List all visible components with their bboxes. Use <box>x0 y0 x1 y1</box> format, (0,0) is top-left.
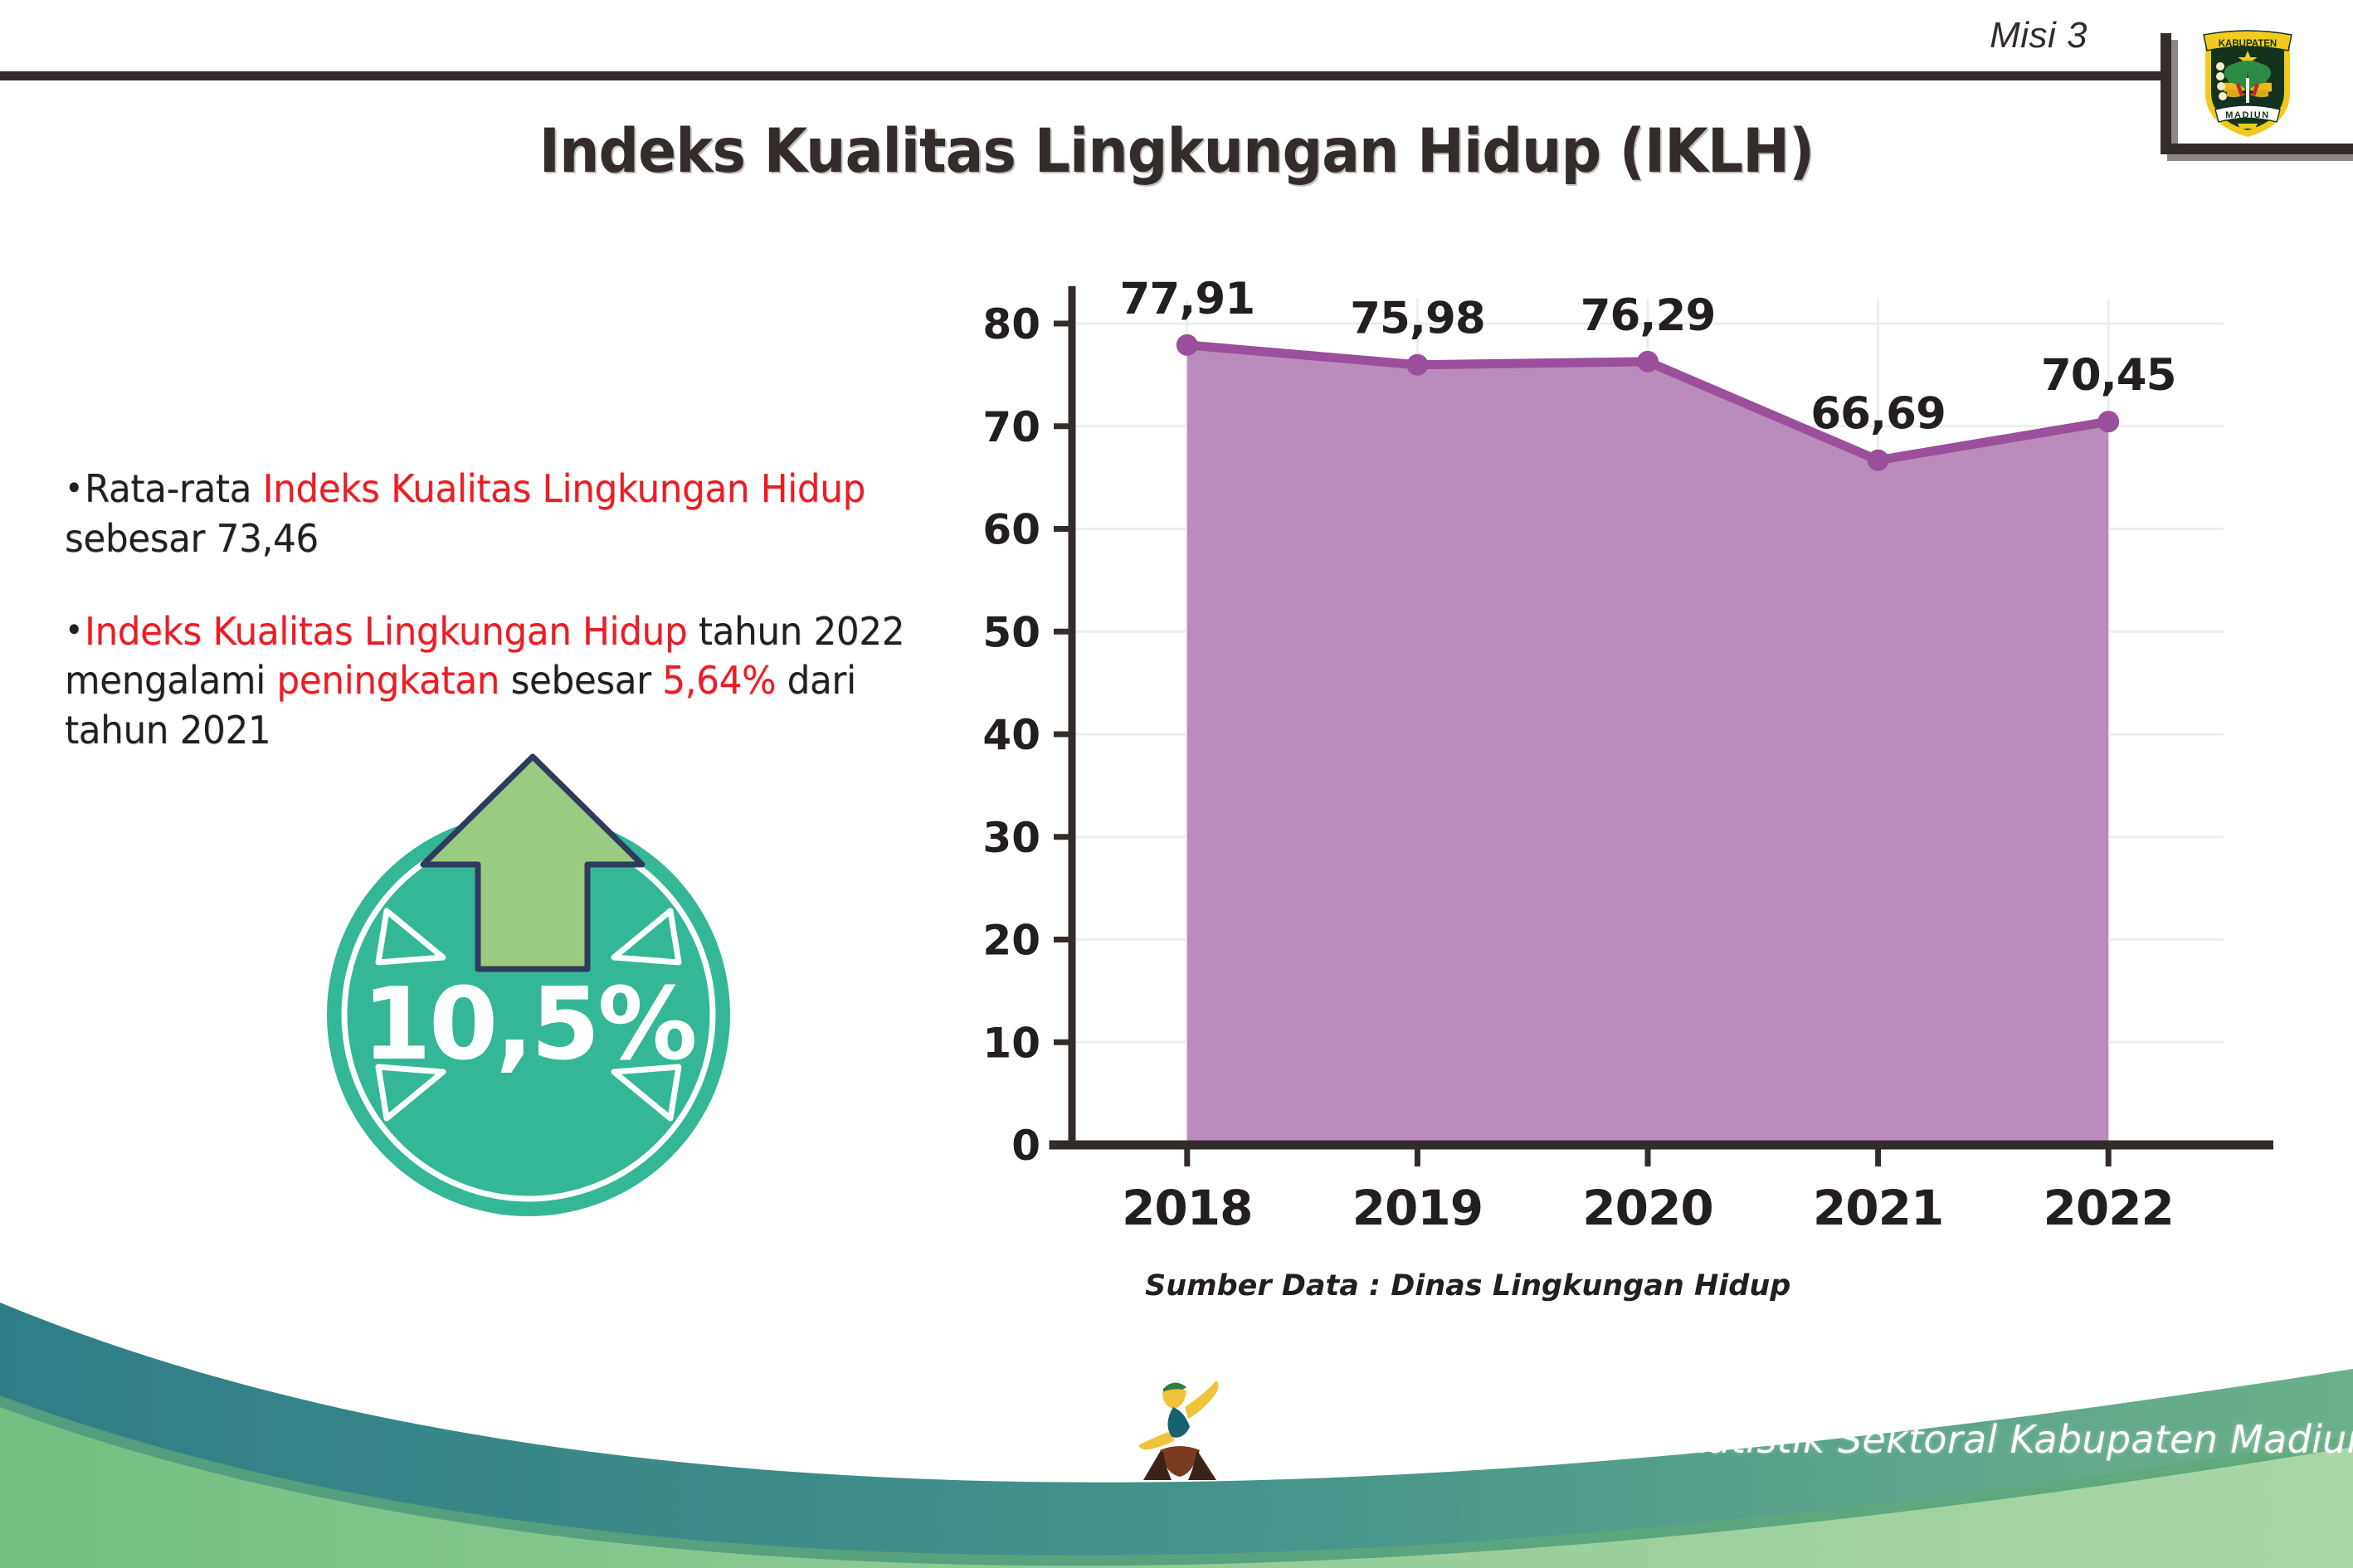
x-tick-label: 2021 <box>1813 1180 1943 1236</box>
y-tick-label: 70 <box>982 403 1040 451</box>
bullet-dot: • <box>65 470 83 508</box>
y-tick-label: 10 <box>982 1019 1040 1067</box>
y-tick-label: 0 <box>1011 1122 1040 1170</box>
up-arrow-icon <box>417 752 649 1001</box>
misi-label: Misi 3 <box>1990 15 2087 56</box>
bullet-1-part-2: Indeks Kualitas Lingkungan Hidup <box>263 466 865 511</box>
footer-wave: Media Infografis Data Statistik Sektoral… <box>0 1269 2353 1568</box>
x-tick-label: 2018 <box>1122 1180 1252 1236</box>
growth-badge: 10,5% <box>325 811 732 1218</box>
bullet-dot: • <box>65 611 83 650</box>
area-fill <box>1187 345 2108 1145</box>
bullet-2-part-5: 5,64% <box>662 658 776 703</box>
chart-x-tick-labels: 20182019202020212022 <box>1122 1180 2174 1236</box>
footer-text: Media Infografis Data Statistik Sektoral… <box>1240 1417 2353 1462</box>
header-rule <box>0 71 2161 80</box>
y-tick-label: 50 <box>982 608 1040 656</box>
series-marker <box>1406 354 1428 376</box>
series-marker <box>1176 334 1198 356</box>
data-label: 77,91 <box>1119 274 1254 324</box>
iklh-area-chart: 01020304050607080 20182019202020212022 7… <box>979 274 2273 1253</box>
series-marker <box>2097 411 2119 432</box>
bullet-item-2: •Indeks Kualitas Lingkungan Hidup tahun … <box>65 607 948 756</box>
bullet-2-part-3: peningkatan <box>276 658 499 703</box>
series-marker <box>1637 351 1659 373</box>
x-tick-label: 2020 <box>1582 1180 1712 1236</box>
y-tick-label: 30 <box>982 814 1040 862</box>
y-tick-label: 40 <box>982 711 1040 759</box>
y-tick-label: 20 <box>982 917 1040 965</box>
data-label: 70,45 <box>2041 350 2176 401</box>
crest-top-text: KABUPATEN <box>2219 39 2277 49</box>
y-tick-label: 80 <box>982 300 1040 348</box>
chart-area-series <box>1176 334 2119 1145</box>
series-marker <box>1868 450 1889 471</box>
infographic-page: Misi 3 KABUPATEN MADIUN <box>0 0 2353 1568</box>
data-label: 75,98 <box>1350 294 1485 344</box>
data-label: 66,69 <box>1810 389 1946 440</box>
x-tick-label: 2019 <box>1352 1180 1483 1236</box>
badge-value: 10,5% <box>325 967 732 1083</box>
bullet-2-part-4: sebesar <box>499 658 662 703</box>
bullet-2-part-1: Indeks Kualitas Lingkungan Hidup <box>85 609 687 654</box>
y-tick-label: 60 <box>982 506 1040 554</box>
narrative-bullets: •Rata-rata Indeks Kualitas Lingkungan Hi… <box>65 465 994 799</box>
x-tick-label: 2022 <box>2043 1180 2173 1236</box>
chart-y-tick-labels: 01020304050607080 <box>982 300 1040 1170</box>
page-title: Indeks Kualitas Lingkungan Hidup (IKLH) <box>82 116 2270 187</box>
data-label: 76,29 <box>1581 290 1716 341</box>
bullet-1-part-3: sebesar 73,46 <box>65 516 319 561</box>
dancer-figure-logo-icon <box>1135 1369 1225 1485</box>
bullet-item-1: •Rata-rata Indeks Kualitas Lingkungan Hi… <box>65 465 948 564</box>
bullet-1-part-1: Rata-rata <box>85 466 263 511</box>
